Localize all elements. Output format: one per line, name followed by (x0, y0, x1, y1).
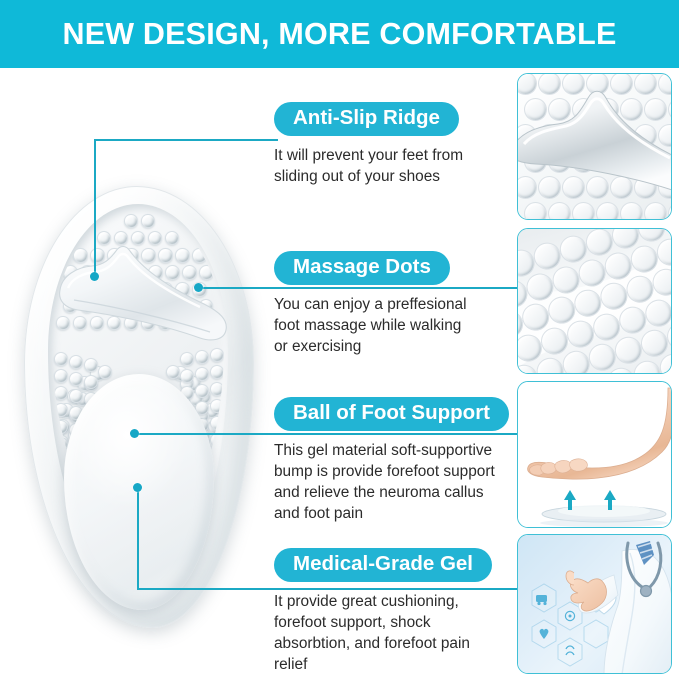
thumbnail-doctor-medical[interactable] (517, 534, 672, 674)
massage-dot (69, 389, 83, 403)
massage-dot (210, 382, 224, 396)
massage-dot (54, 420, 68, 434)
callout-label-anti-slip-ridge[interactable]: Anti-Slip Ridge (274, 102, 459, 136)
callout-massage-dots: Massage Dots You can enjoy a preffesiona… (274, 251, 514, 357)
massage-dots-closeup-dots (518, 229, 671, 373)
massage-dot (180, 369, 194, 383)
massage-dot (195, 367, 209, 381)
callout-desc-massage-dots: You can enjoy a preffesional foot massag… (274, 294, 514, 357)
massage-dot (166, 365, 180, 379)
callout-label-ball-of-foot-support[interactable]: Ball of Foot Support (274, 397, 509, 431)
massage-dot (195, 384, 209, 398)
massage-dot (523, 270, 556, 303)
hotspot-dot-ridge (90, 272, 99, 281)
page-title: NEW DESIGN, MORE COMFORTABLE (62, 17, 616, 52)
thumbnail-massage-dots-closeup[interactable] (517, 228, 672, 374)
callout-anti-slip-ridge: Anti-Slip Ridge It will prevent your fee… (274, 102, 510, 187)
massage-dot (98, 365, 112, 379)
callout-medical-grade-gel: Medical-Grade Gel It provide great cushi… (274, 548, 514, 674)
callout-label-medical-grade-gel[interactable]: Medical-Grade Gel (274, 548, 492, 582)
callout-desc-ball-of-foot-support: This gel material soft-supportive bump i… (274, 440, 518, 524)
hotspot-dot-massage (194, 283, 203, 292)
hotspot-dot-ball (130, 429, 139, 438)
thumbnail-ridge-closeup[interactable] (517, 73, 672, 220)
massage-dot (560, 348, 593, 373)
massage-dot (602, 250, 635, 283)
connector-ridge-horizontal (94, 139, 278, 141)
massage-dot (84, 375, 98, 389)
massage-dot (210, 365, 224, 379)
thumbnail-foot-on-pad[interactable] (517, 381, 672, 528)
massage-dot (54, 369, 68, 383)
anti-slip-ridge-shape (54, 242, 234, 362)
massage-dot (54, 386, 68, 400)
massage-dot (590, 311, 623, 344)
massage-dot (616, 304, 649, 337)
callout-ball-of-foot-support: Ball of Foot Support This gel material s… (274, 397, 518, 524)
massage-dot (642, 297, 671, 330)
massage-dot (550, 263, 583, 296)
massage-dot (141, 214, 155, 228)
header-banner: NEW DESIGN, MORE COMFORTABLE (0, 0, 679, 68)
callout-desc-medical-grade-gel: It provide great cushioning, forefoot su… (274, 591, 514, 674)
foot-illustration (518, 382, 672, 528)
massage-dot (564, 318, 597, 351)
ridge-closeup-shape (518, 74, 672, 220)
hotspot-dot-gel (133, 483, 142, 492)
massage-dot (210, 433, 224, 447)
doctor-illustration (518, 535, 672, 674)
massage-dot (586, 341, 619, 373)
dot-band (518, 229, 671, 373)
callout-label-massage-dots[interactable]: Massage Dots (274, 251, 450, 285)
massage-dot (54, 403, 68, 417)
massage-dot (210, 399, 224, 413)
connector-gel-vertical (137, 490, 139, 589)
massage-dot (576, 257, 609, 290)
connector-ridge-vertical (94, 139, 96, 279)
massage-dot (124, 214, 138, 228)
callout-desc-anti-slip-ridge: It will prevent your feet from sliding o… (274, 145, 510, 187)
infographic-root: NEW DESIGN, MORE COMFORTABLE (0, 0, 679, 674)
massage-dot (69, 372, 83, 386)
massage-dot (538, 325, 571, 358)
massage-dot (628, 243, 661, 276)
massage-dot (210, 416, 224, 430)
